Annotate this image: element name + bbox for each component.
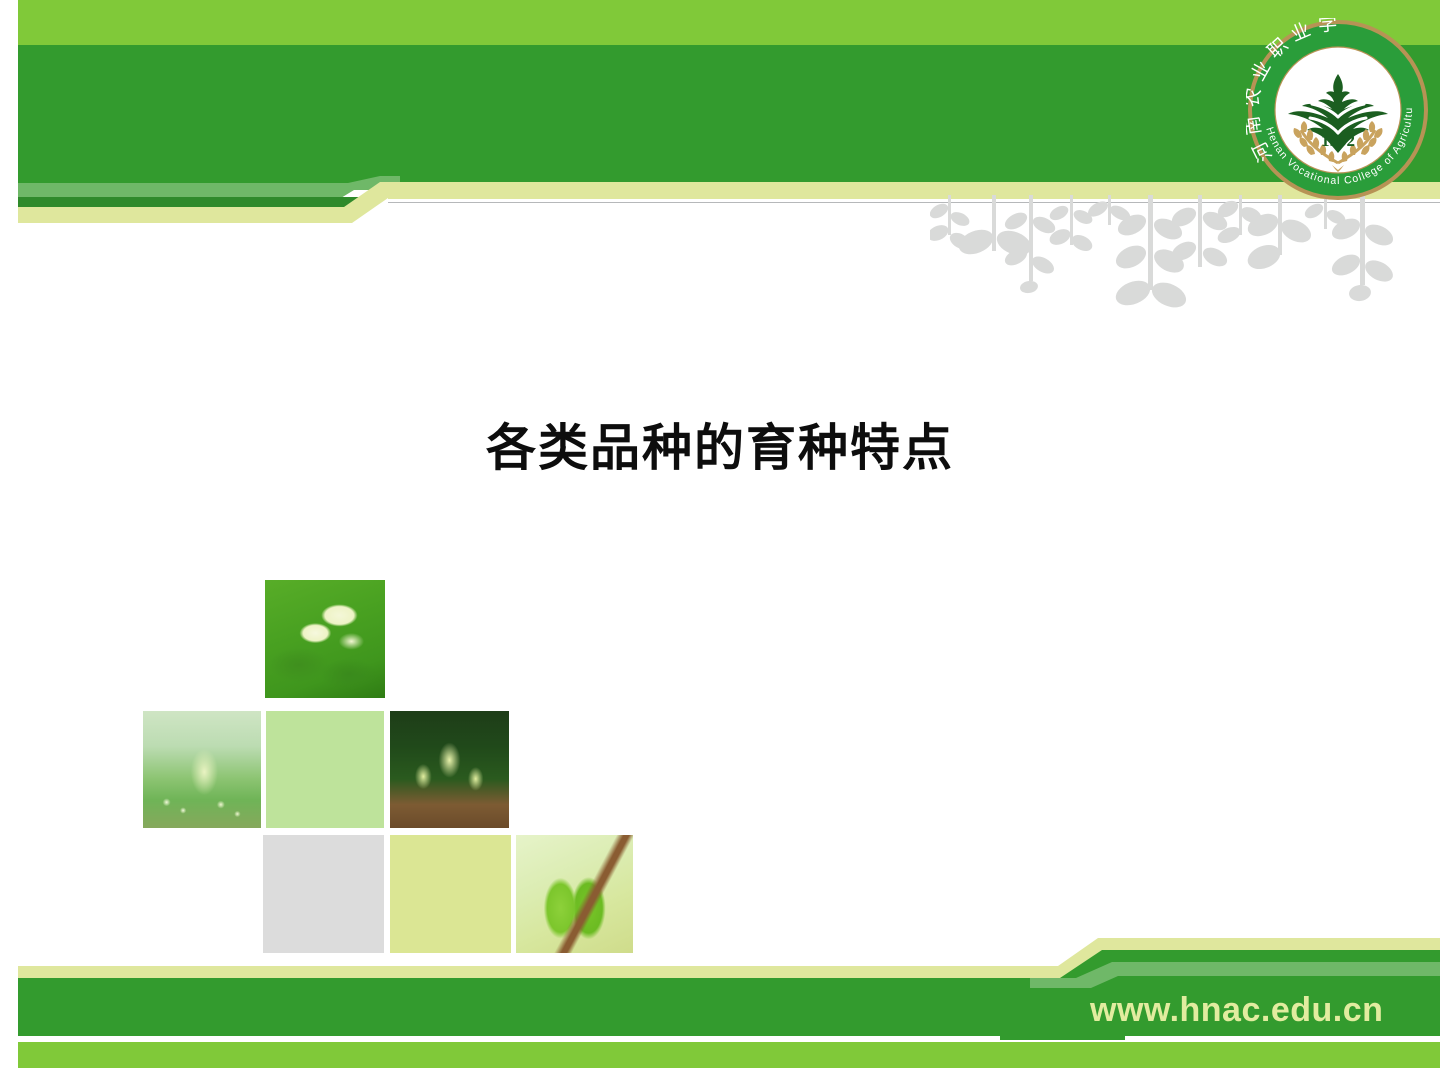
image-mosaic	[0, 0, 1440, 1080]
footer-bottom-band	[18, 1042, 1440, 1068]
tile-seedlings-photo	[390, 711, 509, 828]
footer-band-left	[18, 978, 1023, 1036]
tile-solid-light-green	[266, 711, 384, 828]
tile-solid-yellow-green	[390, 835, 511, 953]
presentation-slide: 河南农业职业学院 Henan Vocational College of Agr…	[0, 0, 1440, 1080]
tile-leaves-photo	[516, 835, 633, 953]
footer-light-accent-stripe	[1128, 962, 1440, 976]
footer-website-url[interactable]: www.hnac.edu.cn	[1090, 988, 1410, 1032]
tile-flower-photo	[265, 580, 385, 698]
tile-moss-sprout-photo	[143, 711, 261, 828]
tile-solid-grey	[263, 835, 384, 953]
